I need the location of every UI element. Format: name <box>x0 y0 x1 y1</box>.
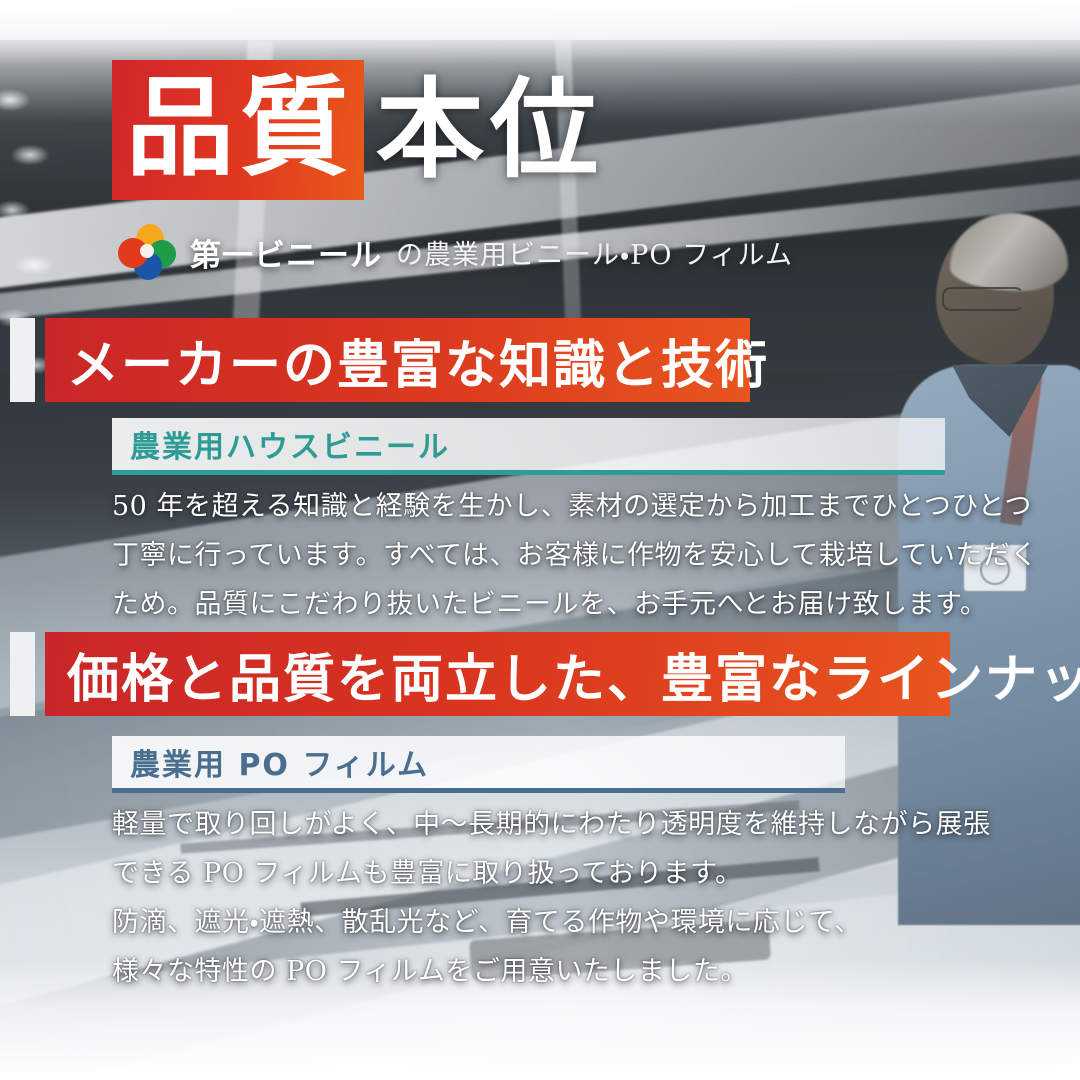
body-line: 50 年を超える知識と経験を生かし、素材の選定から加工までひとつひとつ <box>112 482 992 531</box>
title-highlight-text: 品質 <box>126 74 354 182</box>
body-line: できる PO フィルムも豊富に取り扱っております。 <box>112 849 972 898</box>
body-line: 軽量で取り回しがよく、中〜長期的にわたり透明度を維持しながら展張 <box>112 800 972 849</box>
section-heading-band-2: 価格と品質を両立した、豊富なラインナップ <box>45 632 950 716</box>
section-heading-text-1: メーカーの豊富な知識と技術 <box>45 323 769 398</box>
title-highlight-box: 品質 <box>112 60 364 200</box>
section-body-2: 軽量で取り回しがよく、中〜長期的にわたり透明度を維持しながら展張 できる PO … <box>112 800 972 997</box>
sub-heading-text-2: 農業用 PO フィルム <box>112 740 429 784</box>
promo-banner: 品質 本位 第一ビニール の農業用ビニール・PO フィルム メーカーの豊富な知識… <box>0 0 1080 1080</box>
body-line: 丁寧に行っています。すべては、お客様に作物を安心して栽培していただく <box>112 531 992 580</box>
section-heading-band-1: メーカーの豊富な知識と技術 <box>45 318 750 402</box>
company-name: 第一ビニール <box>190 230 382 275</box>
sub-heading-text-1: 農業用ハウスビニール <box>112 422 450 466</box>
section-heading-text-2: 価格と品質を両立した、豊富なラインナップ <box>45 637 1080 712</box>
banner-content: 品質 本位 第一ビニール の農業用ビニール・PO フィルム メーカーの豊富な知識… <box>0 0 1080 1080</box>
company-logo-icon <box>118 224 176 280</box>
title-rest-text: 本位 <box>376 76 604 184</box>
logo-core-icon <box>140 244 154 258</box>
section-accent-bar <box>10 632 35 716</box>
sub-heading-strip-2: 農業用 PO フィルム <box>112 736 845 793</box>
body-line: 防滴、遮光・遮熱、散乱光など、育てる作物や環境に応じて、 <box>112 898 972 947</box>
section-body-1: 50 年を超える知識と経験を生かし、素材の選定から加工までひとつひとつ 丁寧に行… <box>112 482 992 629</box>
logo-lockup: 第一ビニール の農業用ビニール・PO フィルム <box>118 224 793 280</box>
logo-tagline: の農業用ビニール・PO フィルム <box>396 233 793 272</box>
body-line: ため。品質にこだわり抜いたビニールを、お手元へとお届け致します。 <box>112 580 992 629</box>
body-line: 様々な特性の PO フィルムをご用意いたしました。 <box>112 947 972 996</box>
main-title: 品質 本位 <box>112 60 604 200</box>
sub-heading-strip-1: 農業用ハウスビニール <box>112 418 945 475</box>
section-accent-bar <box>10 318 35 402</box>
